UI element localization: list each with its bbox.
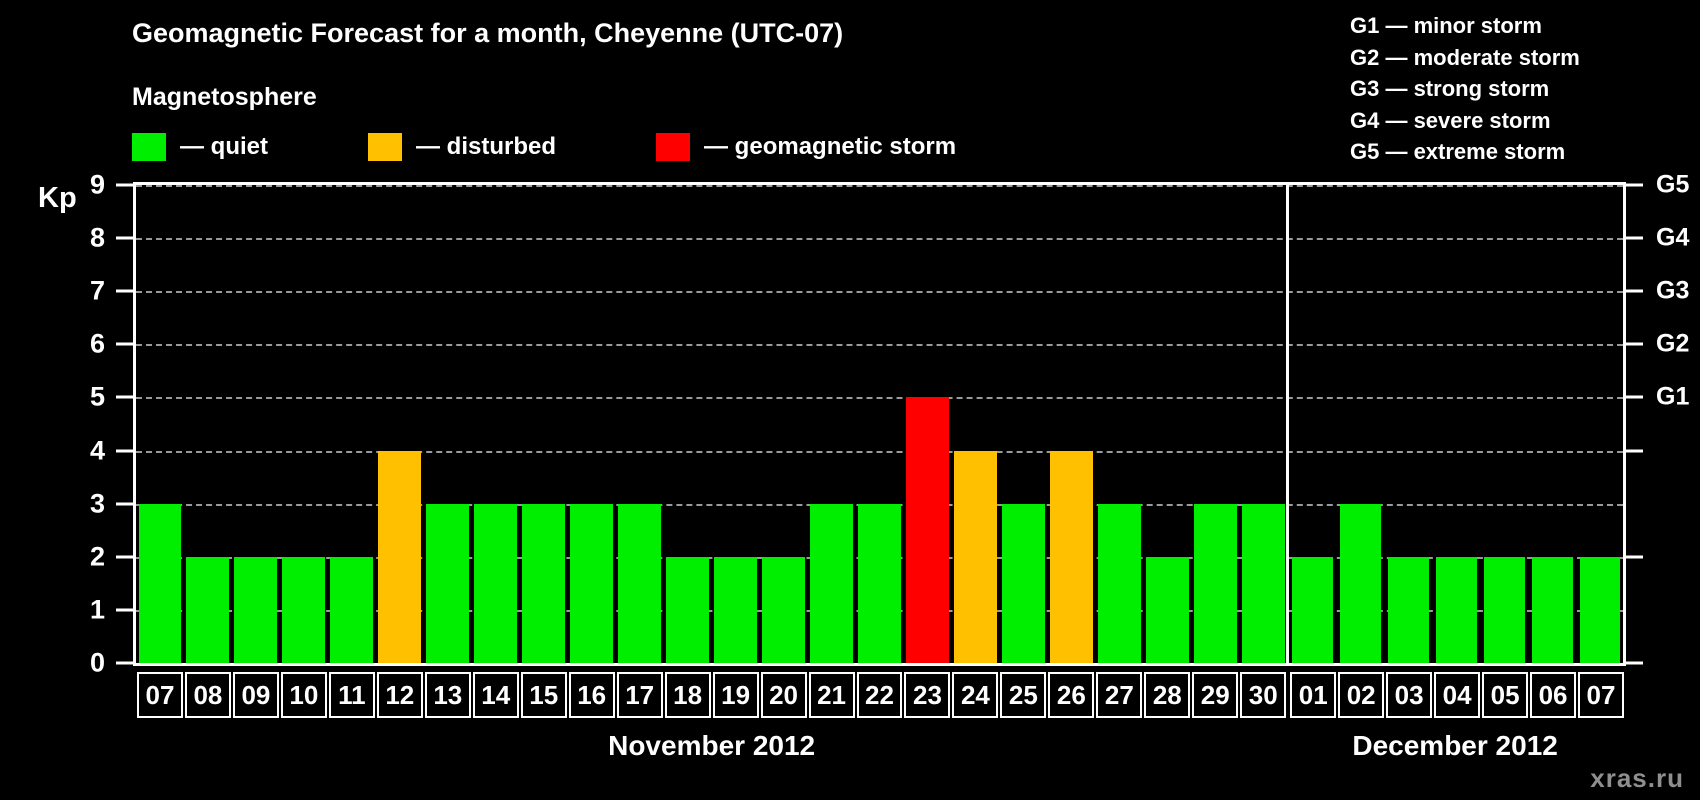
bar — [954, 451, 997, 663]
day-label-cell: 24 — [952, 672, 998, 718]
bar — [1340, 504, 1381, 663]
day-label-cell: 22 — [857, 672, 903, 718]
y-tick-mark — [116, 237, 133, 240]
g-minor-tick-mark — [1626, 555, 1643, 558]
bar — [330, 557, 373, 663]
y-tick-label: 4 — [90, 435, 105, 466]
g-tick-label: G1 — [1656, 383, 1689, 412]
legend-label: — geomagnetic storm — [704, 133, 956, 161]
bar — [1388, 557, 1429, 663]
bar — [810, 504, 853, 663]
day-label-cell: 28 — [1144, 672, 1190, 718]
day-label-cell: 27 — [1096, 672, 1142, 718]
watermark: xras.ru — [1590, 763, 1684, 794]
y-tick-mark — [116, 396, 133, 399]
y-tick-mark — [116, 502, 133, 505]
day-label-cell: 04 — [1434, 672, 1480, 718]
month-caption: November 2012 — [608, 730, 815, 762]
g-tick-mark — [1626, 396, 1643, 399]
day-label-cell: 23 — [904, 672, 950, 718]
y-axis: 0123456789 — [0, 182, 133, 666]
bar — [1002, 504, 1045, 663]
day-label-cell: 20 — [761, 672, 807, 718]
g-axis: G1G2G3G4G5 — [1626, 182, 1700, 666]
day-label-cell: 13 — [425, 672, 471, 718]
bar — [1242, 504, 1285, 663]
day-label-cell: 10 — [281, 672, 327, 718]
legend-entry: — geomagnetic storm — [656, 133, 956, 161]
g-minor-tick-mark — [1626, 449, 1643, 452]
disturbed-swatch — [368, 133, 402, 161]
month-caption: December 2012 — [1352, 730, 1557, 762]
bar — [618, 504, 661, 663]
gscale-legend: G1 — minor stormG2 — moderate stormG3 — … — [1350, 10, 1680, 168]
day-label-cell: 25 — [1000, 672, 1046, 718]
y-tick-label: 1 — [90, 594, 105, 625]
bar — [1580, 557, 1621, 663]
day-label-cell: 07 — [137, 672, 183, 718]
y-tick-label: 8 — [90, 223, 105, 254]
storm-swatch — [656, 133, 690, 161]
bar — [378, 451, 421, 663]
day-label-cell: 30 — [1240, 672, 1286, 718]
day-label-cell: 07 — [1578, 672, 1624, 718]
g-tick-mark — [1626, 184, 1643, 187]
month-divider — [1286, 185, 1289, 663]
g-tick-mark — [1626, 343, 1643, 346]
bar — [714, 557, 757, 663]
bar — [1050, 451, 1093, 663]
bar — [666, 557, 709, 663]
legend-entry: — disturbed — [368, 133, 556, 161]
bar — [1194, 504, 1237, 663]
bar — [1146, 557, 1189, 663]
day-label-cell: 16 — [569, 672, 615, 718]
bar — [234, 557, 277, 663]
day-label-cell: 12 — [377, 672, 423, 718]
day-label-cell: 01 — [1290, 672, 1336, 718]
day-label-cell: 21 — [809, 672, 855, 718]
y-tick-mark — [116, 555, 133, 558]
page-title: Geomagnetic Forecast for a month, Cheyen… — [132, 18, 843, 49]
gscale-row: G3 — strong storm — [1350, 73, 1680, 105]
bar — [282, 557, 325, 663]
gscale-row: G5 — extreme storm — [1350, 136, 1680, 168]
y-tick-mark — [116, 662, 133, 665]
bar — [1436, 557, 1477, 663]
y-tick-mark — [116, 184, 133, 187]
day-label-cell: 17 — [617, 672, 663, 718]
bar — [858, 504, 901, 663]
day-label-cell: 15 — [521, 672, 567, 718]
bar — [762, 557, 805, 663]
plot-area — [133, 182, 1626, 666]
legend-label: — quiet — [180, 133, 268, 161]
y-tick-label: 5 — [90, 382, 105, 413]
day-label-cell: 06 — [1530, 672, 1576, 718]
g-tick-label: G3 — [1656, 277, 1689, 306]
legend-label: — disturbed — [416, 133, 556, 161]
day-label-cell: 03 — [1386, 672, 1432, 718]
day-axis: 0708091011121314151617181920212223242526… — [133, 672, 1626, 718]
quiet-swatch — [132, 133, 166, 161]
day-label-cell: 09 — [233, 672, 279, 718]
bar — [474, 504, 517, 663]
bar — [906, 397, 949, 663]
y-tick-label: 0 — [90, 648, 105, 679]
bar — [1532, 557, 1573, 663]
y-tick-mark — [116, 608, 133, 611]
y-tick-mark — [116, 343, 133, 346]
day-label-cell: 11 — [329, 672, 375, 718]
y-tick-label: 3 — [90, 488, 105, 519]
magnetosphere-legend: — quiet— disturbed— geomagnetic storm — [132, 132, 956, 162]
gscale-row: G2 — moderate storm — [1350, 42, 1680, 74]
y-tick-label: 6 — [90, 329, 105, 360]
gscale-row: G1 — minor storm — [1350, 10, 1680, 42]
magnetosphere-heading: Magnetosphere — [132, 83, 317, 112]
y-tick-label: 2 — [90, 541, 105, 572]
day-label-cell: 18 — [665, 672, 711, 718]
bars-layer — [136, 185, 1623, 663]
day-label-cell: 02 — [1338, 672, 1384, 718]
bar — [139, 504, 182, 663]
gscale-row: G4 — severe storm — [1350, 105, 1680, 137]
day-label-cell: 19 — [713, 672, 759, 718]
bar — [522, 504, 565, 663]
g-tick-label: G5 — [1656, 171, 1689, 200]
g-tick-mark — [1626, 290, 1643, 293]
plot-inner — [136, 185, 1623, 663]
g-tick-mark — [1626, 237, 1643, 240]
g-tick-label: G4 — [1656, 224, 1689, 253]
y-tick-mark — [116, 449, 133, 452]
day-label-cell: 05 — [1482, 672, 1528, 718]
y-tick-label: 7 — [90, 276, 105, 307]
bar — [186, 557, 229, 663]
day-label-cell: 26 — [1048, 672, 1094, 718]
day-label-cell: 29 — [1192, 672, 1238, 718]
y-tick-mark — [116, 290, 133, 293]
bar — [570, 504, 613, 663]
bar — [1484, 557, 1525, 663]
y-tick-label: 9 — [90, 170, 105, 201]
bar — [1098, 504, 1141, 663]
g-tick-label: G2 — [1656, 330, 1689, 359]
g-minor-tick-mark — [1626, 662, 1643, 665]
legend-entry: — quiet — [132, 133, 268, 161]
day-label-cell: 08 — [185, 672, 231, 718]
day-label-cell: 14 — [473, 672, 519, 718]
bar — [1292, 557, 1333, 663]
bar — [426, 504, 469, 663]
